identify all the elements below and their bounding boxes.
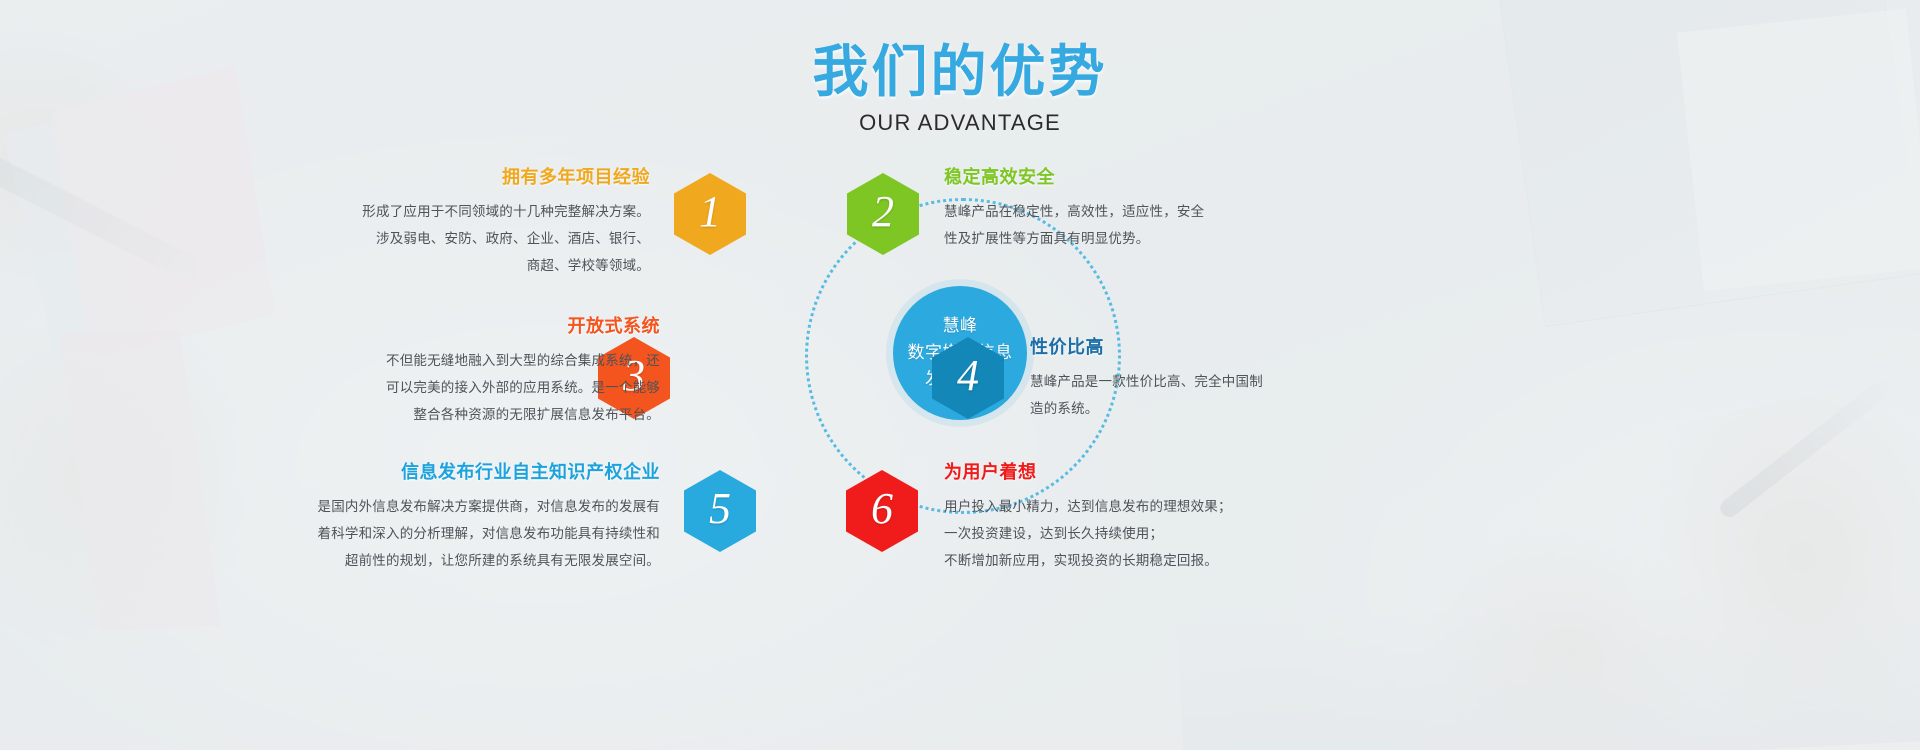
advantage-card-1: 拥有多年项目经验 形成了应用于不同领域的十几种完整解决方案。涉及弱电、安防、政府… xyxy=(320,163,650,279)
advantage-card-6-title: 为用户着想 xyxy=(944,458,1344,484)
hex-badge-1[interactable]: 1 xyxy=(674,173,746,255)
advantage-card-5-body: 是国内外信息发布解决方案提供商，对信息发布的发展有着科学和深入的分析理解，对信息… xyxy=(280,493,660,574)
advantage-card-6-body: 用户投入最小精力，达到信息发布的理想效果；一次投资建设，达到长久持续使用；不断增… xyxy=(944,493,1344,574)
advantage-card-4: 性价比高 慧峰产品是一款性价比高、完全中国制造的系统。 xyxy=(1030,333,1410,422)
hex-badge-2-number: 2 xyxy=(872,190,894,234)
advantage-card-2-body: 慧峰产品在稳定性，高效性，适应性，安全性及扩展性等方面具有明显优势。 xyxy=(944,198,1324,252)
advantage-card-4-title: 性价比高 xyxy=(1030,333,1410,359)
hex-badge-4-number: 4 xyxy=(957,354,979,398)
advantage-card-2-title: 稳定高效安全 xyxy=(944,163,1324,189)
advantage-card-4-body: 慧峰产品是一款性价比高、完全中国制造的系统。 xyxy=(1030,368,1410,422)
advantage-card-1-body: 形成了应用于不同领域的十几种完整解决方案。涉及弱电、安防、政府、企业、酒店、银行… xyxy=(320,198,650,279)
advantage-card-5: 信息发布行业自主知识产权企业 是国内外信息发布解决方案提供商，对信息发布的发展有… xyxy=(280,458,660,574)
hex-badge-6-number: 6 xyxy=(871,487,893,531)
center-circle-line-1: 慧峰 xyxy=(943,313,978,339)
advantage-card-3: 开放式系统 不但能无缝地融入到大型的综合集成系统，还可以完美的接入外部的应用系统… xyxy=(260,312,660,428)
advantage-infographic: 我们的优势 OUR ADVANTAGE 慧峰 数字媒体信息 发布系统 1 2 3… xyxy=(0,0,1920,750)
advantage-diagram: 慧峰 数字媒体信息 发布系统 1 2 3 4 5 6 拥有多年项目经验 形成了应… xyxy=(0,0,1920,750)
hex-badge-5[interactable]: 5 xyxy=(684,470,756,552)
hex-badge-5-number: 5 xyxy=(709,487,731,531)
advantage-card-1-title: 拥有多年项目经验 xyxy=(320,163,650,189)
advantage-card-6: 为用户着想 用户投入最小精力，达到信息发布的理想效果；一次投资建设，达到长久持续… xyxy=(944,458,1344,574)
advantage-card-3-body: 不但能无缝地融入到大型的综合集成系统，还可以完美的接入外部的应用系统。是一个能够… xyxy=(260,347,660,428)
advantage-card-2: 稳定高效安全 慧峰产品在稳定性，高效性，适应性，安全性及扩展性等方面具有明显优势… xyxy=(944,163,1324,252)
hex-badge-1-number: 1 xyxy=(699,190,721,234)
advantage-card-5-title: 信息发布行业自主知识产权企业 xyxy=(280,458,660,484)
advantage-card-3-title: 开放式系统 xyxy=(260,312,660,338)
